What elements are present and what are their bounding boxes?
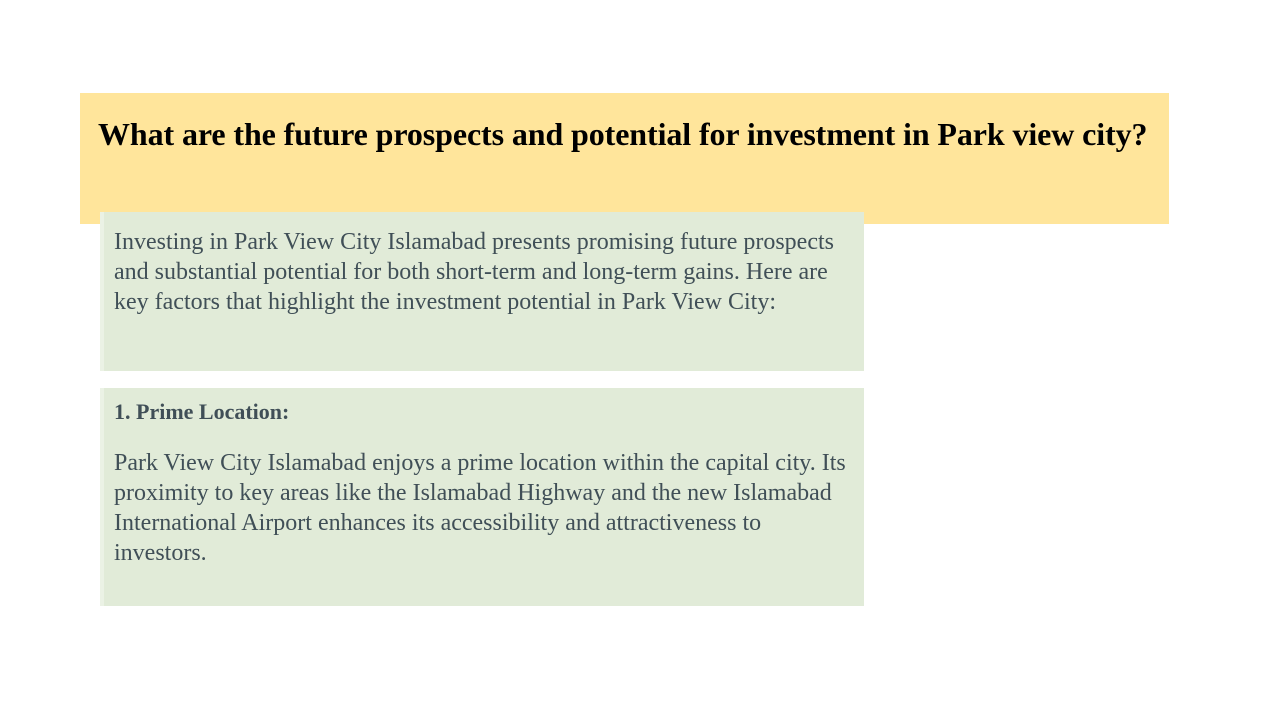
intro-paragraph: Investing in Park View City Islamabad pr… <box>114 212 850 317</box>
intro-card: Investing in Park View City Islamabad pr… <box>100 212 864 371</box>
prime-location-paragraph: Park View City Islamabad enjoys a prime … <box>114 426 850 568</box>
page-root: What are the future prospects and potent… <box>0 0 1280 720</box>
prime-location-heading: 1. Prime Location: <box>114 388 850 426</box>
page-title: What are the future prospects and potent… <box>98 115 1158 153</box>
question-banner: What are the future prospects and potent… <box>80 93 1169 224</box>
prime-location-card: 1. Prime Location: Park View City Islama… <box>100 388 864 606</box>
